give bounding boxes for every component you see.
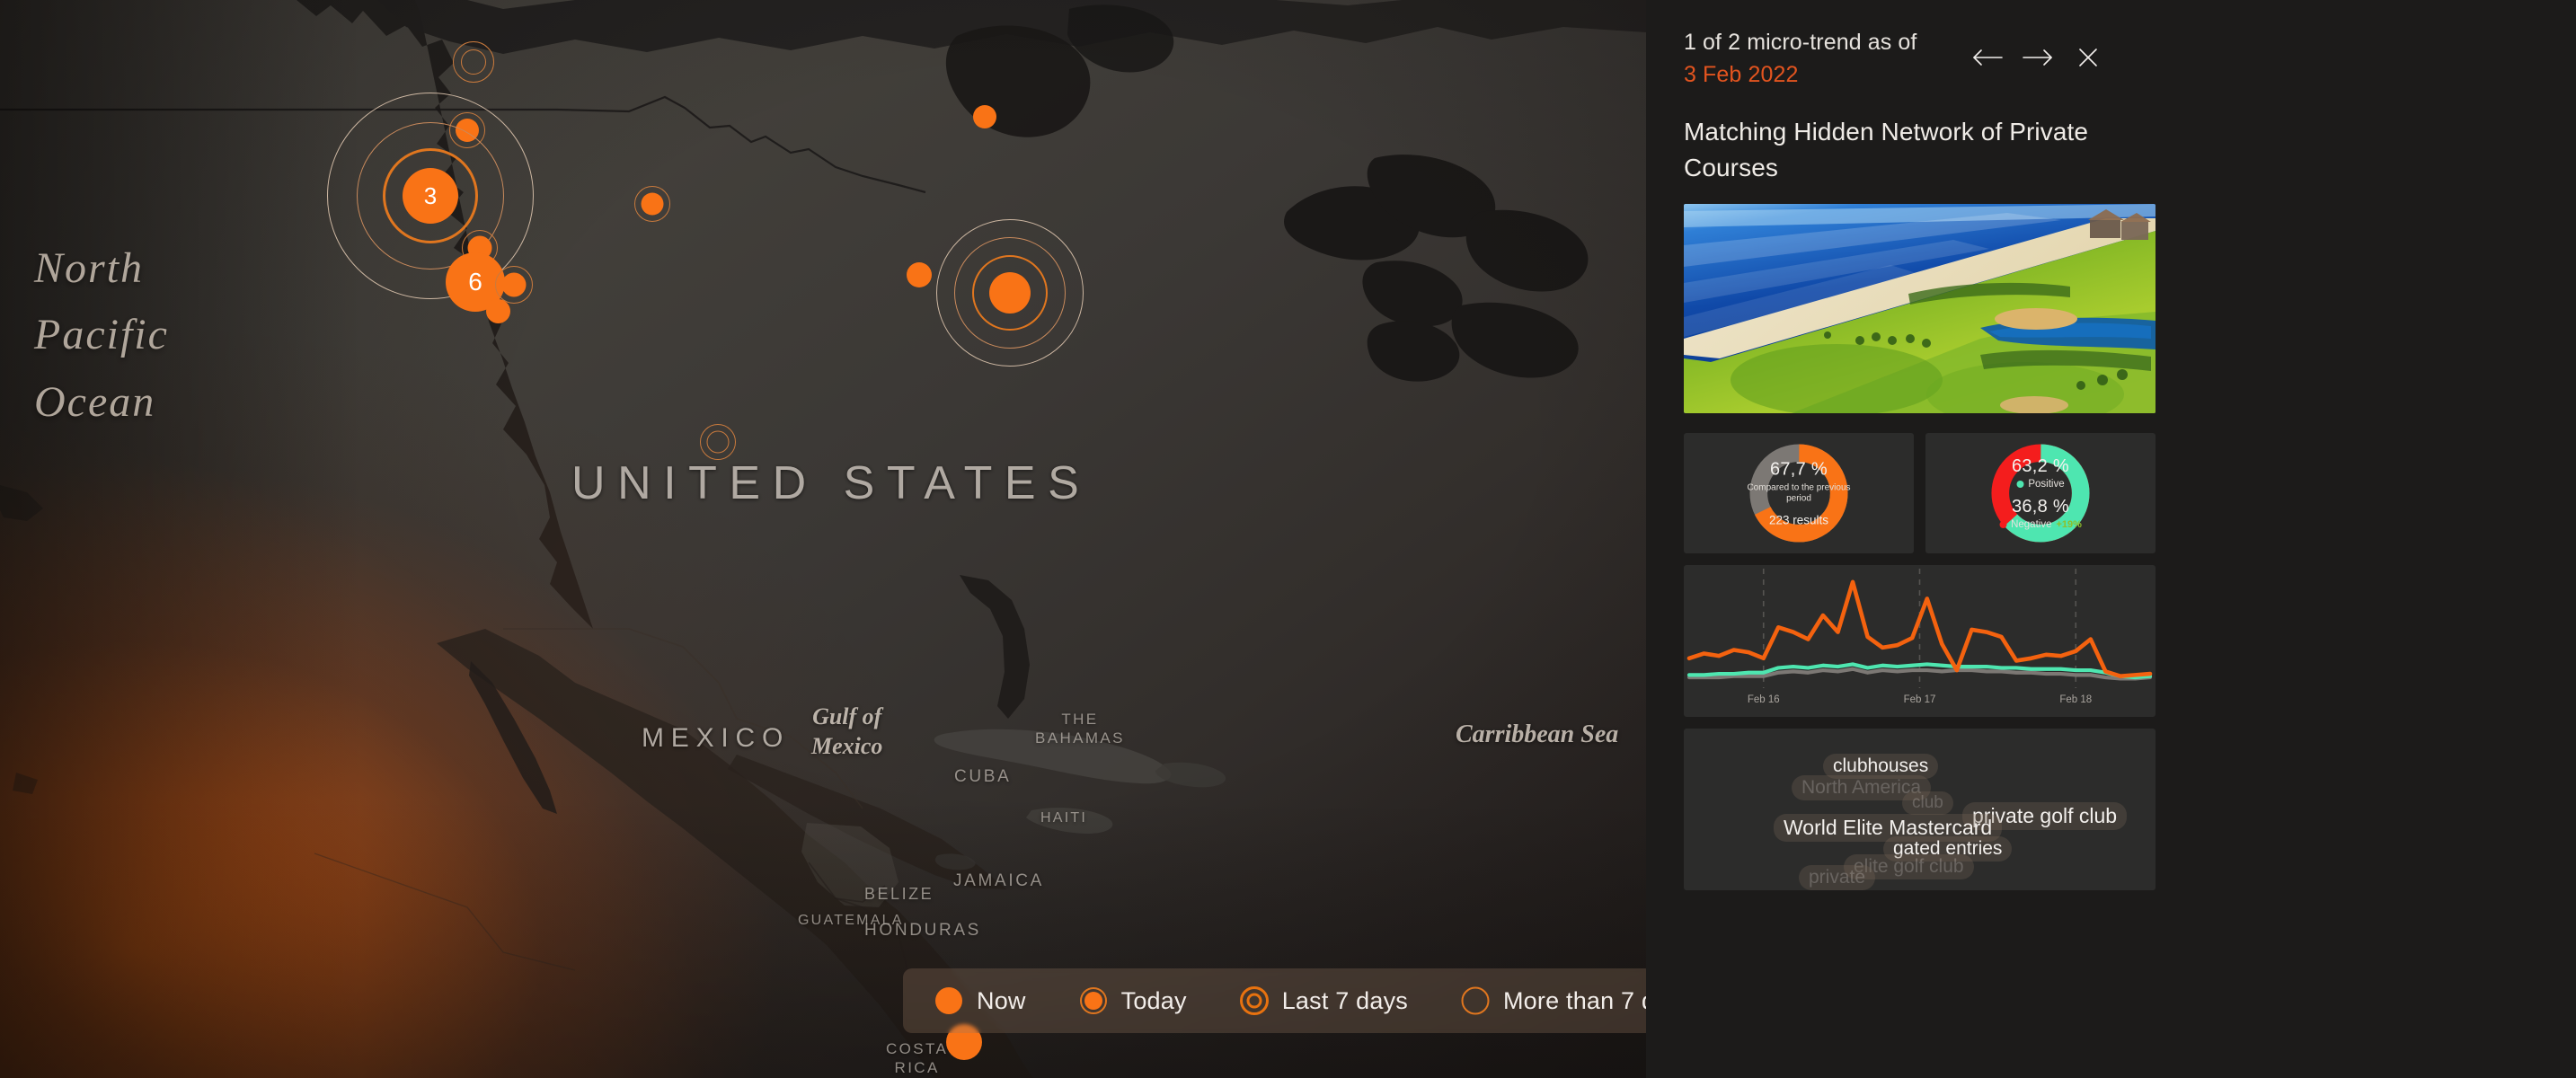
card-word-cloud[interactable]: clubhousesNorth Americaclubprivate golf … [1684,729,2156,890]
panel-header: 1 of 2 micro-trend as of 3 Feb 2022 [1684,0,2156,91]
panel-nav[interactable] [1962,40,2113,75]
positive-dot-icon [2016,481,2023,488]
trend-hero-image [1684,204,2156,413]
negative-value: 36,8 % [1980,497,2102,517]
legend-swatch-today-icon [1078,985,1109,1016]
map-canvas[interactable]: North Pacific OceanGulf of MexicoCarribb… [0,0,1646,1078]
legend-today[interactable]: Today [1078,985,1187,1016]
negative-dot-icon [1999,521,2006,528]
trend-date: 3 Feb 2022 [1684,62,1799,87]
sentiment-delta: +19% [2056,519,2081,530]
marker-east-coast[interactable] [936,219,1084,367]
positive-value: 63,2 % [1980,456,2102,477]
donut-previous-center: 67,7 % Compared to the previous period 2… [1739,459,1860,526]
card-mentions-timeline[interactable]: Feb 16Feb 17Feb 18 [1684,565,2156,717]
marker-midwest[interactable] [634,186,670,222]
time-legend[interactable]: NowTodayLast 7 daysMore than 7 days ago [903,968,1646,1033]
word-cloud-term[interactable]: club [1902,791,1953,815]
close-icon[interactable] [2063,40,2113,75]
legend-swatch-old-icon [1460,985,1491,1016]
legend-last-7-days[interactable]: Last 7 days [1239,985,1408,1016]
legend-now[interactable]: Now [934,985,1026,1016]
marker-northeast[interactable] [973,105,996,128]
trend-detail-panel: 1 of 2 micro-trend as of 3 Feb 2022 [1646,0,2576,1078]
timeline-tick-label: Feb 18 [2059,694,2092,705]
legend-swatch-now-icon [934,985,964,1016]
marker-ring [461,49,486,75]
legend-label: More than 7 days ago [1503,987,1646,1015]
country-label: THE BAHAMAS [1035,710,1125,748]
metric-cards: 67,7 % Compared to the previous period 2… [1684,433,2156,553]
sea-label: Gulf of Mexico [811,702,882,761]
ocean-label: North Pacific Ocean [34,235,169,436]
country-label: COSTA RICA [886,1039,948,1078]
country-label: MEXICO [642,723,790,754]
trend-counter-text: 1 of 2 micro-trend as of [1684,30,1917,55]
app-root: North Pacific OceanGulf of MexicoCarribb… [0,0,2576,1078]
legend-label: Today [1121,987,1187,1015]
positive-label: Positive [2028,479,2064,490]
marker-san-diego[interactable] [486,299,510,323]
previous-period-caption: Compared to the previous period [1739,482,1860,505]
positive-legend: Positive [1980,479,2102,490]
marker-dot[interactable]: 3 [403,168,458,224]
prev-arrow-icon[interactable] [1962,40,2013,75]
timeline-x-axis: Feb 16Feb 17Feb 18 [1684,694,2156,709]
marker-dot[interactable] [502,273,527,297]
country-label: UNITED STATES [571,456,1091,510]
negative-legend: Negative +19% [1980,519,2102,530]
marker-southeast[interactable] [907,262,932,287]
donut-sentiment-center: 63,2 % Positive 36,8 % Negative +19% [1980,456,2102,530]
legend-swatch-l7-icon [1239,985,1270,1016]
card-sentiment[interactable]: 63,2 % Positive 36,8 % Negative +19% [1925,433,2156,553]
marker-dot[interactable] [989,272,1031,314]
marker-dot[interactable] [907,262,932,287]
country-label: CUBA [954,767,1011,787]
timeline-tick-label: Feb 16 [1748,694,1780,705]
next-arrow-icon[interactable] [2013,40,2063,75]
legend-label: Last 7 days [1282,987,1408,1015]
sea-label: Carribbean Sea [1456,719,1618,750]
trend-title: Matching Hidden Network of Private Cours… [1684,114,2156,186]
marker-mexico-central[interactable] [700,424,736,460]
country-label: HONDURAS [864,921,981,941]
marker-dot[interactable] [486,299,510,323]
country-label: HAITI [1040,810,1087,826]
timeline-tick-label: Feb 17 [1904,694,1936,705]
marker-pacific-northwest[interactable] [453,41,494,83]
previous-period-value: 67,7 % [1739,459,1860,480]
card-compared-to-previous[interactable]: 67,7 % Compared to the previous period 2… [1684,433,1914,553]
marker-dot[interactable] [973,105,996,128]
word-cloud-term[interactable]: private [1799,865,1875,890]
previous-period-results: 223 results [1739,513,1860,526]
legend-label: Now [977,987,1026,1015]
legend-more-than-7-days[interactable]: More than 7 days ago [1460,985,1646,1016]
country-label: JAMAICA [953,871,1044,891]
marker-dot[interactable] [642,193,664,216]
negative-label: Negative [2011,519,2051,530]
timeline-series-mentions [1689,581,2150,676]
country-label: BELIZE [864,885,934,904]
marker-ring [707,431,730,454]
